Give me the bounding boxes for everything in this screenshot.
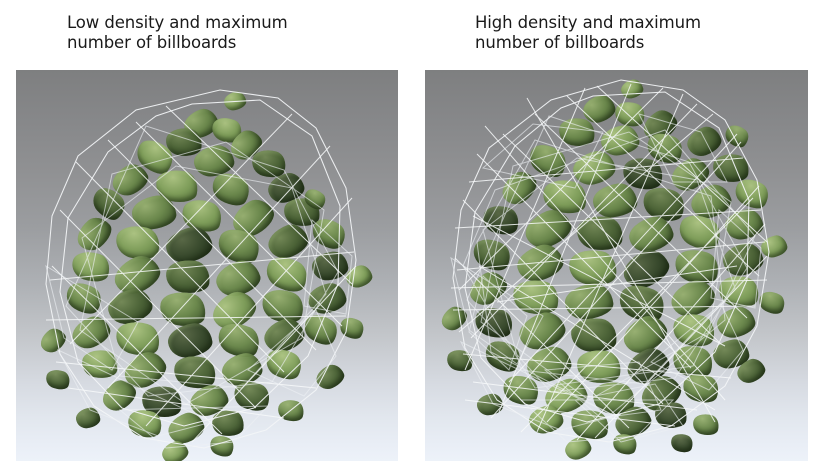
wireframe-overlay — [425, 70, 808, 461]
scene-high-density — [425, 70, 808, 461]
figure-comparison-billboards: Low density and maximum number of billbo… — [0, 0, 825, 474]
scene-low-density — [16, 70, 398, 461]
wireframe-overlay — [16, 70, 398, 461]
render-panel-high-density — [425, 70, 808, 461]
render-panel-low-density — [16, 70, 398, 461]
caption-right-panel: High density and maximum number of billb… — [475, 13, 805, 52]
caption-left-panel: Low density and maximum number of billbo… — [67, 13, 397, 52]
